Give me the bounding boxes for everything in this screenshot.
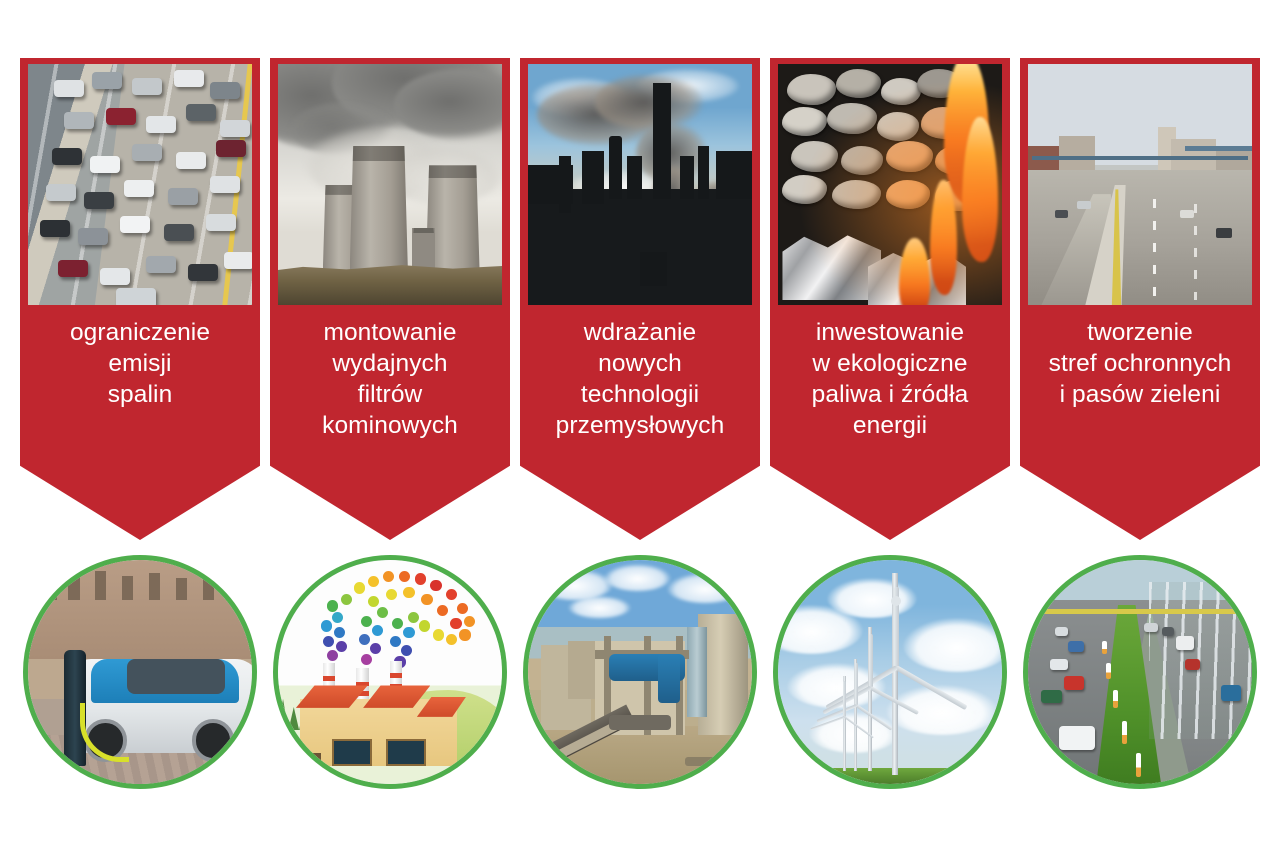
circle-cell-4 bbox=[770, 552, 1010, 792]
photo-frame-5 bbox=[1028, 64, 1252, 305]
infographic-root: ograniczenie emisji spalin bbox=[0, 0, 1280, 853]
circle-row bbox=[20, 552, 1260, 792]
column-2: montowanie wydajnych filtrów kominowych bbox=[270, 58, 510, 540]
factory-filtered-emissions-illustration bbox=[278, 560, 502, 784]
banner-arrow-5[interactable]: tworzenie stref ochronnych i pasów ziele… bbox=[1020, 58, 1260, 540]
banner-label-2: montowanie wydajnych filtrów kominowych bbox=[270, 318, 510, 441]
wind-turbines-photo bbox=[778, 560, 1002, 784]
column-1: ograniczenie emisji spalin bbox=[20, 58, 260, 540]
electric-car-charging-photo bbox=[28, 560, 252, 784]
circle-cell-1 bbox=[20, 552, 260, 792]
banner-label-4: inwestowanie w ekologiczne paliwa i źród… bbox=[770, 318, 1010, 441]
circle-frame-2[interactable] bbox=[273, 555, 507, 789]
circle-cell-5 bbox=[1020, 552, 1260, 792]
banner-label-3: wdrażanie nowych technologii przemysłowy… bbox=[520, 318, 760, 441]
banner-arrow-4[interactable]: inwestowanie w ekologiczne paliwa i źród… bbox=[770, 58, 1010, 540]
circle-cell-3 bbox=[520, 552, 760, 792]
banner-row: ograniczenie emisji spalin bbox=[20, 58, 1260, 540]
photo-frame-3 bbox=[528, 64, 752, 305]
photo-frame-4 bbox=[778, 64, 1002, 305]
cooling-towers-photo bbox=[278, 64, 502, 305]
circle-frame-3[interactable] bbox=[523, 555, 757, 789]
banner-arrow-1[interactable]: ograniczenie emisji spalin bbox=[20, 58, 260, 540]
banner-label-1: ograniczenie emisji spalin bbox=[20, 318, 260, 411]
circle-frame-1[interactable] bbox=[23, 555, 257, 789]
circle-frame-5[interactable] bbox=[1023, 555, 1257, 789]
modern-cement-plant-photo bbox=[528, 560, 752, 784]
banner-arrow-3[interactable]: wdrażanie nowych technologii przemysłowy… bbox=[520, 58, 760, 540]
burning-coal-briquettes-photo bbox=[778, 64, 1002, 305]
column-4: inwestowanie w ekologiczne paliwa i źród… bbox=[770, 58, 1010, 540]
green-belt-highway-photo bbox=[1028, 560, 1252, 784]
circle-cell-2 bbox=[270, 552, 510, 792]
circle-frame-4[interactable] bbox=[773, 555, 1007, 789]
traffic-jam-photo bbox=[28, 64, 252, 305]
urban-highway-photo bbox=[1028, 64, 1252, 305]
photo-frame-1 bbox=[28, 64, 252, 305]
column-3: wdrażanie nowych technologii przemysłowy… bbox=[520, 58, 760, 540]
banner-arrow-2[interactable]: montowanie wydajnych filtrów kominowych bbox=[270, 58, 510, 540]
smokestack-industry-photo bbox=[528, 64, 752, 305]
column-5: tworzenie stref ochronnych i pasów ziele… bbox=[1020, 58, 1260, 540]
banner-label-5: tworzenie stref ochronnych i pasów ziele… bbox=[1020, 318, 1260, 411]
photo-frame-2 bbox=[278, 64, 502, 305]
